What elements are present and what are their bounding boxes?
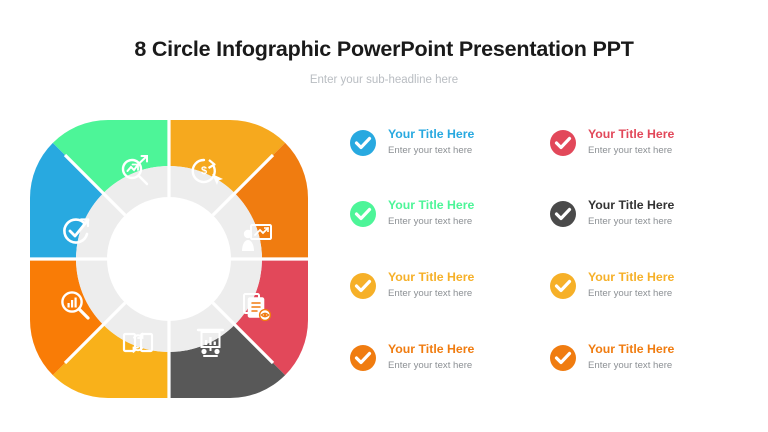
list-item-title: Your Title Here [588, 341, 738, 357]
list-item-title: Your Title Here [588, 269, 738, 285]
svg-text:$: $ [201, 165, 207, 177]
list-item-title: Your Title Here [388, 269, 538, 285]
wheel-center-hole [107, 197, 231, 321]
title-list: Your Title Here Enter your text here You… [350, 126, 750, 396]
list-item-text: Enter your text here [388, 143, 538, 158]
check-circle-icon [550, 273, 576, 299]
list-item-text: Enter your text here [588, 358, 738, 373]
list-item-text: Enter your text here [588, 286, 738, 301]
list-item-title: Your Title Here [388, 126, 538, 142]
check-circle-icon [550, 345, 576, 371]
list-item-title: Your Title Here [588, 197, 738, 213]
list-item-title: Your Title Here [588, 126, 738, 142]
list-item-title: Your Title Here [388, 341, 538, 357]
list-item[interactable]: Your Title Here Enter your text here [350, 197, 535, 239]
check-circle-icon [350, 201, 376, 227]
list-item[interactable]: Your Title Here Enter your text here [550, 269, 735, 311]
slide-canvas: 8 Circle Infographic PowerPoint Presenta… [0, 0, 768, 432]
list-item[interactable]: Your Title Here Enter your text here [550, 126, 735, 168]
list-item-text: Enter your text here [388, 214, 538, 229]
list-item-text: Enter your text here [388, 358, 538, 373]
list-item[interactable]: Your Title Here Enter your text here [350, 341, 535, 383]
page-title: 8 Circle Infographic PowerPoint Presenta… [0, 37, 768, 62]
list-item[interactable]: Your Title Here Enter your text here [350, 269, 535, 311]
list-item[interactable]: Your Title Here Enter your text here [550, 341, 735, 383]
list-item-text: Enter your text here [388, 286, 538, 301]
check-circle-icon [350, 130, 376, 156]
list-item-text: Enter your text here [588, 214, 738, 229]
list-item-title: Your Title Here [388, 197, 538, 213]
check-circle-icon [550, 201, 576, 227]
check-circle-icon [550, 130, 576, 156]
list-item-text: Enter your text here [588, 143, 738, 158]
circle-infographic-wheel: $ [22, 112, 316, 406]
list-item[interactable]: Your Title Here Enter your text here [550, 197, 735, 239]
check-circle-icon [350, 345, 376, 371]
page-subtitle: Enter your sub-headline here [0, 74, 768, 86]
list-item[interactable]: Your Title Here Enter your text here [350, 126, 535, 168]
check-circle-icon [350, 273, 376, 299]
inner-ring [22, 112, 316, 406]
